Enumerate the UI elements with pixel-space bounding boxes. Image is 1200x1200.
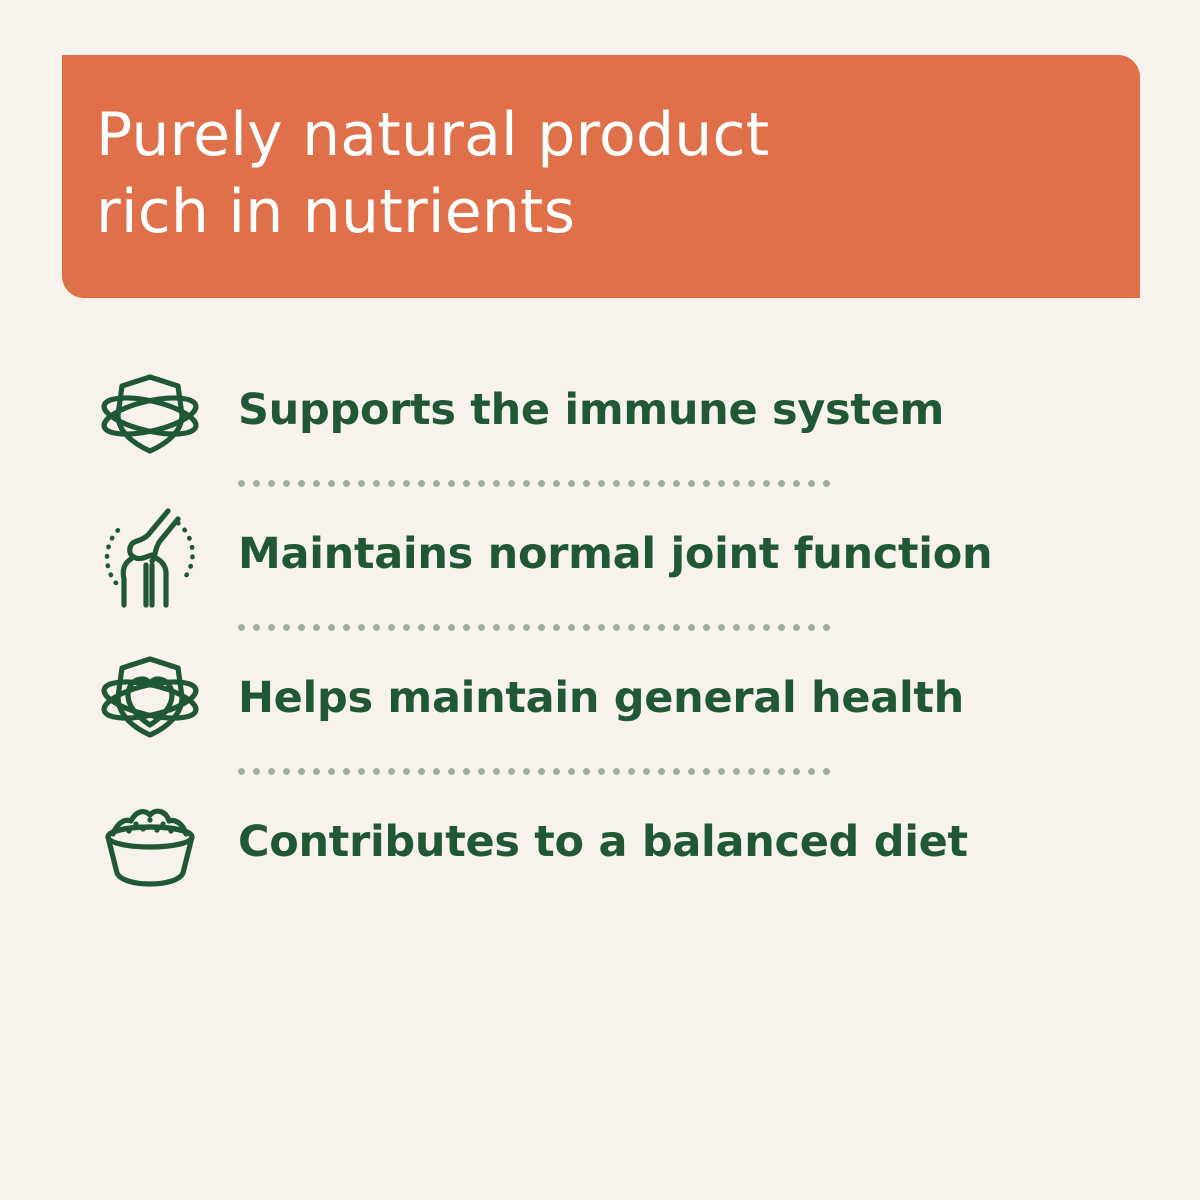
benefit-item-general-health: Helps maintain general health	[62, 638, 1140, 760]
shield-heart-icon	[62, 643, 238, 755]
dotted-divider	[238, 624, 832, 631]
benefit-divider-2	[62, 616, 1140, 638]
knee-joint-icon	[62, 499, 238, 611]
heading-line-1: Purely natural product	[96, 97, 1140, 174]
benefit-divider-3	[62, 760, 1140, 782]
heading-line-2: rich in nutrients	[96, 174, 1140, 251]
heading-banner: Purely natural product rich in nutrients	[62, 55, 1140, 298]
benefits-list: Supports the immune system Maintains nor…	[62, 350, 1140, 904]
benefit-item-joint-function: Maintains normal joint function	[62, 494, 1140, 616]
benefit-label: Helps maintain general health	[238, 675, 964, 722]
benefit-label: Supports the immune system	[238, 387, 944, 434]
benefit-item-immune-system: Supports the immune system	[62, 350, 1140, 472]
dotted-divider	[238, 768, 832, 775]
shield-atom-icon	[62, 355, 238, 467]
benefit-label: Maintains normal joint function	[238, 531, 992, 578]
dotted-divider	[238, 480, 832, 487]
benefit-label: Contributes to a balanced diet	[238, 819, 968, 866]
pet-food-bowl-icon	[62, 787, 238, 899]
benefit-divider-1	[62, 472, 1140, 494]
benefit-item-balanced-diet: Contributes to a balanced diet	[62, 782, 1140, 904]
